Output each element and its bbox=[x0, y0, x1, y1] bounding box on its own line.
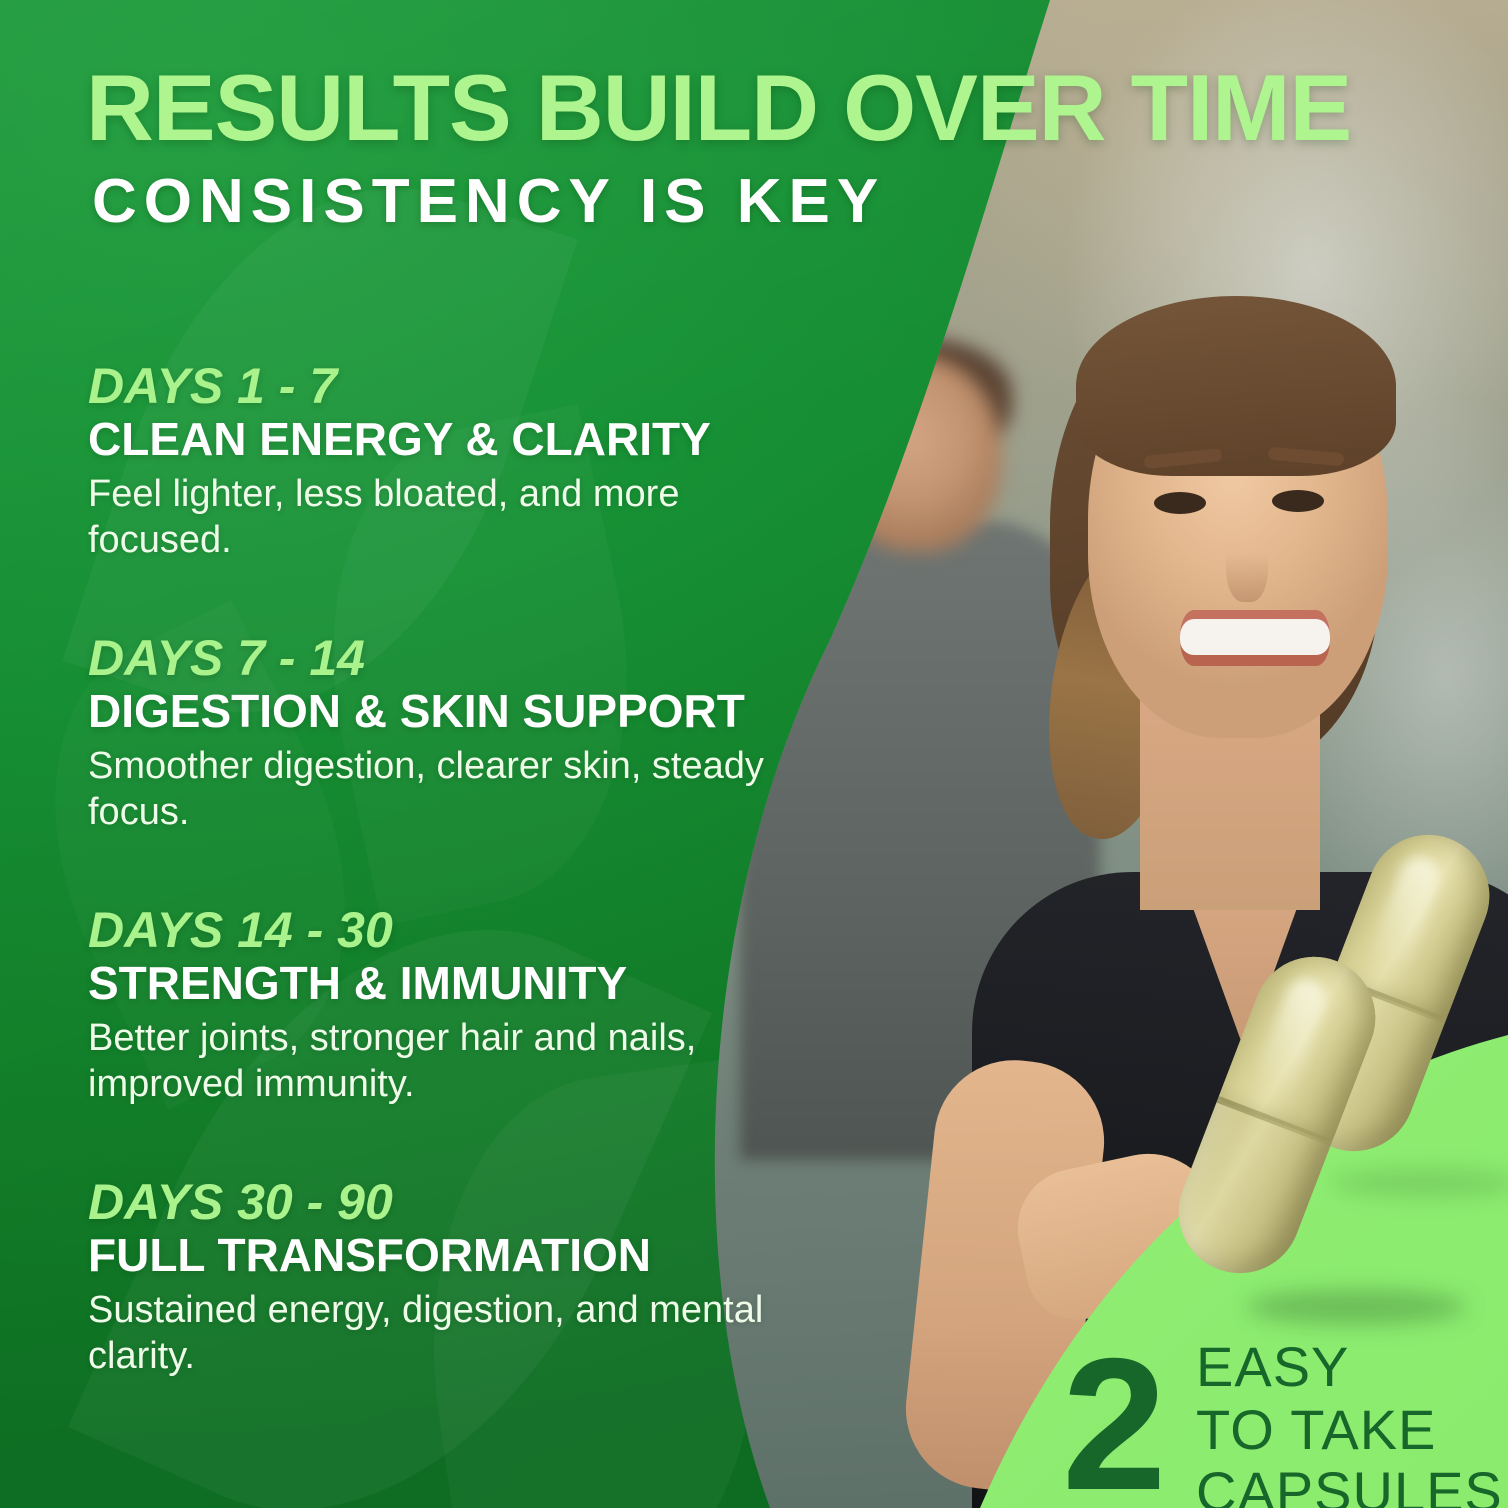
badge-line-2: TO TAKE bbox=[1196, 1399, 1503, 1462]
timeline-title: CLEAN ENERGY & CLARITY bbox=[88, 415, 788, 465]
timeline-title: STRENGTH & IMMUNITY bbox=[88, 959, 788, 1009]
badge-line-1: EASY bbox=[1196, 1336, 1503, 1399]
timeline-description: Feel lighter, less bloated, and more foc… bbox=[88, 471, 788, 564]
capsule-shadow bbox=[1246, 1290, 1466, 1324]
timeline-title: FULL TRANSFORMATION bbox=[88, 1231, 788, 1281]
timeline-block: DAYS 1 - 7 CLEAN ENERGY & CLARITY Feel l… bbox=[88, 360, 788, 563]
badge-line-3: CAPSULES bbox=[1196, 1461, 1503, 1508]
timeline-days: DAYS 7 - 14 bbox=[88, 632, 788, 684]
timeline-title: DIGESTION & SKIN SUPPORT bbox=[88, 687, 788, 737]
timeline-description: Smoother digestion, clearer skin, steady… bbox=[88, 743, 788, 836]
timeline-block: DAYS 14 - 30 STRENGTH & IMMUNITY Better … bbox=[88, 904, 788, 1107]
woman-eye-right bbox=[1272, 490, 1324, 512]
capsule-count-number: 2 bbox=[1062, 1330, 1167, 1508]
timeline-description: Better joints, stronger hair and nails, … bbox=[88, 1015, 788, 1108]
capsule-count-label: EASY TO TAKE CAPSULES bbox=[1196, 1336, 1503, 1508]
subheadline: CONSISTENCY IS KEY bbox=[92, 166, 885, 237]
timeline-days: DAYS 30 - 90 bbox=[88, 1176, 788, 1228]
poster-canvas: RESULTS BUILD OVER TIME CONSISTENCY IS K… bbox=[0, 0, 1508, 1508]
woman-hair-top bbox=[1076, 296, 1396, 476]
woman-nose bbox=[1226, 520, 1268, 602]
woman-smile bbox=[1180, 610, 1330, 666]
timeline-block: DAYS 30 - 90 FULL TRANSFORMATION Sustain… bbox=[88, 1176, 788, 1379]
timeline-block: DAYS 7 - 14 DIGESTION & SKIN SUPPORT Smo… bbox=[88, 632, 788, 835]
capsule-shadow bbox=[1330, 1168, 1508, 1198]
headline: RESULTS BUILD OVER TIME bbox=[86, 62, 1456, 154]
timeline-description: Sustained energy, digestion, and mental … bbox=[88, 1287, 788, 1380]
woman-eye-left bbox=[1154, 492, 1206, 514]
timeline-days: DAYS 1 - 7 bbox=[88, 360, 788, 412]
timeline-days: DAYS 14 - 30 bbox=[88, 904, 788, 956]
